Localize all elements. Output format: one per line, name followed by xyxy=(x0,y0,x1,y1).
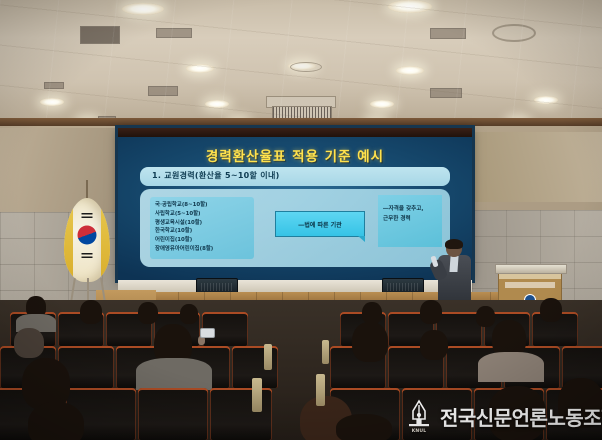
ceiling-light xyxy=(186,64,214,73)
logo-subtext: KNUL xyxy=(404,429,434,434)
seat xyxy=(138,388,208,440)
aisle-rail xyxy=(316,374,325,406)
ceiling-vent xyxy=(430,88,462,98)
ceiling-vent xyxy=(44,82,64,89)
seat xyxy=(210,388,272,440)
list-item: 국·공립학교(8~10할) xyxy=(155,201,249,210)
slide-center-callout: ―법에 따른 기관 xyxy=(275,211,365,237)
ceiling xyxy=(0,0,602,126)
ceiling-light xyxy=(205,100,229,108)
audience-head xyxy=(362,302,382,324)
ceiling-vent xyxy=(80,26,120,44)
ceiling-speaker-ring xyxy=(492,24,536,42)
ceiling-vent xyxy=(148,86,178,96)
ceiling-light xyxy=(534,96,558,104)
slide-right-line: ―자격을 갖추고, xyxy=(383,205,437,215)
pen-nib-logo-icon: KNUL xyxy=(404,399,434,433)
list-item: 어린이집(10할) xyxy=(155,236,249,245)
audience-head xyxy=(476,306,495,327)
ceiling-light xyxy=(122,3,164,15)
audience-head xyxy=(180,304,198,324)
ceiling-light xyxy=(40,98,64,106)
audience-head xyxy=(28,402,84,440)
auditorium-photo: 경력환산율표 적용 기준 예시 1. 교원경력(환산율 5~10할 이내) 국·… xyxy=(0,0,602,440)
ac-housing xyxy=(266,96,336,108)
audience-head xyxy=(420,330,448,360)
list-item: 사립학교(5~10할) xyxy=(155,210,249,219)
audience-head xyxy=(14,328,44,358)
audience-shoulders xyxy=(478,352,544,382)
list-item: 한국학교(10할) xyxy=(155,227,249,236)
wall-right-panel xyxy=(470,132,602,202)
flag-stand xyxy=(70,278,104,302)
ceiling-light xyxy=(396,66,424,75)
aisle-rail xyxy=(252,378,262,412)
watermark: KNUL 전국신문언론노동조합 xyxy=(404,396,598,436)
audience-shoulders xyxy=(136,358,212,390)
smartphone xyxy=(200,328,215,338)
presenter-hair xyxy=(445,239,463,249)
ceiling-vent xyxy=(156,28,192,38)
flag-gold-fringe xyxy=(64,198,73,282)
audience-head xyxy=(138,302,158,324)
list-item: 평생교육시설(10할) xyxy=(155,219,249,228)
ceiling-light xyxy=(388,0,432,13)
podium-plate xyxy=(505,282,555,288)
projection-screen: 경력환산율표 적용 기준 예시 1. 교원경력(환산율 5~10할 이내) 국·… xyxy=(118,128,472,280)
slide-list-box: 국·공립학교(8~10할) 사립학교(5~10할) 평생교육시설(10할) 한국… xyxy=(150,197,254,259)
aisle-rail xyxy=(264,344,272,370)
slide-subtitle: 1. 교원경력(환산율 5~10할 이내) xyxy=(152,170,280,181)
podium-top-surface xyxy=(495,264,567,274)
flag-gold-fringe xyxy=(101,198,110,282)
slide-right-line: 근무한 경력 xyxy=(383,215,437,225)
korean-flag xyxy=(60,180,114,304)
audience-head xyxy=(336,414,392,440)
flag-trigram xyxy=(82,213,93,220)
slide-body-panel: 국·공립학교(8~10할) 사립학교(5~10할) 평생교육시설(10할) 한국… xyxy=(140,189,450,267)
list-item: 장애영유아어린이집(8할) xyxy=(155,245,249,254)
flag-cloth xyxy=(64,198,110,282)
ceiling-speaker-ring xyxy=(290,62,322,72)
presenter-shirt xyxy=(449,256,458,272)
ceiling-light xyxy=(288,62,316,70)
slide-center-callout-text: ―법에 따른 기관 xyxy=(298,220,341,229)
audience-head xyxy=(80,300,102,324)
aisle-rail xyxy=(322,340,329,364)
watermark-organization: 전국신문언론노동조합 xyxy=(440,402,602,431)
audience-head xyxy=(352,322,388,362)
screen-top-trim xyxy=(118,128,472,137)
presentation-slide: 경력환산율표 적용 기준 예시 1. 교원경력(환산율 5~10할 이내) 국·… xyxy=(118,137,472,280)
slide-subtitle-bar: 1. 교원경력(환산율 5~10할 이내) xyxy=(140,167,450,186)
slide-title: 경력환산율표 적용 기준 예시 xyxy=(118,145,472,165)
ceiling-light xyxy=(370,100,394,108)
ceiling-vent xyxy=(430,28,466,39)
taeguk-symbol xyxy=(78,225,97,244)
audience-head xyxy=(420,300,442,324)
flag-trigram xyxy=(82,253,93,260)
audience-head xyxy=(540,298,562,322)
